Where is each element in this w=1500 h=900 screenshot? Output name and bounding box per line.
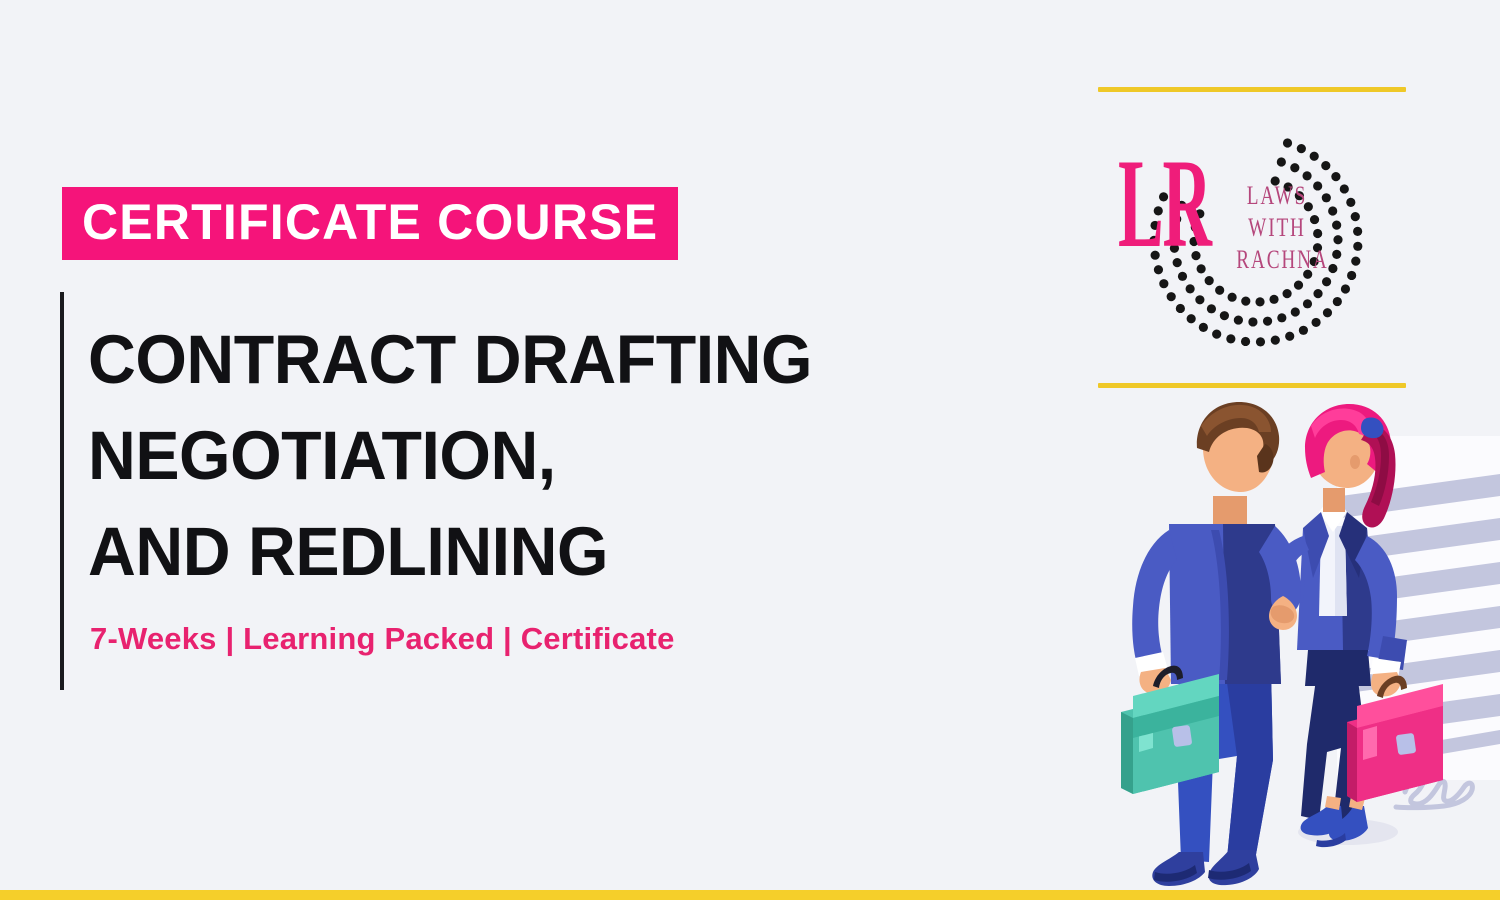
eyebrow-label: CERTIFICATE COURSE	[82, 196, 658, 248]
briefcase-teal-icon	[1121, 666, 1219, 794]
logo-word-1: LAWS	[1236, 180, 1317, 212]
handshake-illustration	[1105, 400, 1500, 900]
logo-word-2: WITH	[1236, 212, 1317, 244]
logo-wordmark: LAWS WITH RACHNA	[1222, 180, 1332, 276]
logo-rule-bottom	[1098, 383, 1406, 388]
headline-line-1: CONTRACT DRAFTING	[88, 312, 933, 408]
eyebrow-banner: CERTIFICATE COURSE	[62, 187, 678, 260]
logo-word-3: RACHNA	[1236, 244, 1317, 276]
brand-logo: LR LAWS WITH RACHNA	[1098, 87, 1406, 388]
page-title: CONTRACT DRAFTING NEGOTIATION, AND REDLI…	[88, 312, 968, 600]
headline-line-2: NEGOTIATION,	[88, 408, 933, 504]
bottom-accent-bar	[0, 890, 1500, 900]
headline-line-3: AND REDLINING	[88, 504, 933, 600]
course-meta-subtitle: 7-Weeks | Learning Packed | Certificate	[90, 619, 675, 659]
logo-monogram: LR	[1118, 140, 1211, 267]
man-figure	[1132, 402, 1301, 886]
headline-vertical-rule	[60, 292, 64, 690]
course-banner: CERTIFICATE COURSE CONTRACT DRAFTING NEG…	[0, 0, 1500, 900]
